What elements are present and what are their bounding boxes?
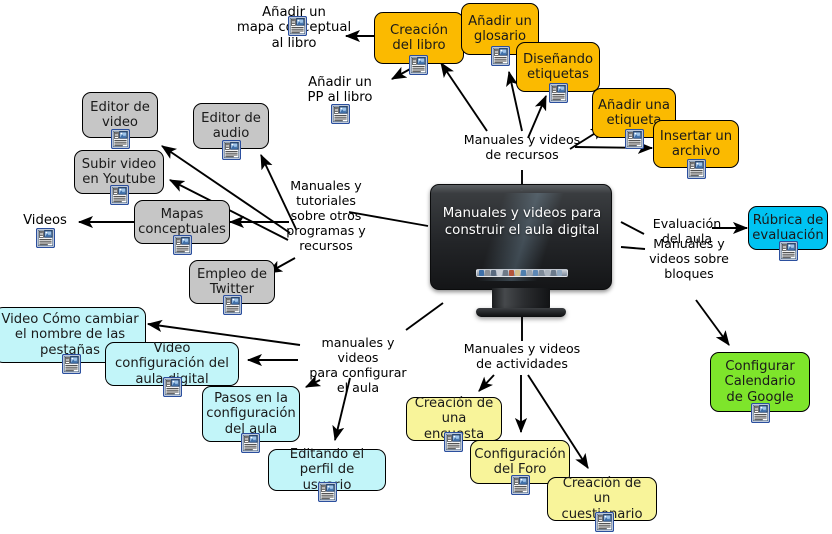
document-attachment-icon[interactable] xyxy=(409,55,428,75)
document-attachment-icon[interactable] xyxy=(318,482,337,502)
document-attachment-icon[interactable] xyxy=(36,228,55,248)
node-label: Empleo de Twitter xyxy=(195,267,269,298)
document-attachment-icon[interactable] xyxy=(625,129,644,149)
edge-label-manuales-videos-recursos: Manuales y videos de recursos xyxy=(460,132,584,162)
document-attachment-icon[interactable] xyxy=(62,354,81,374)
dock-icon xyxy=(533,270,538,276)
dock-icon xyxy=(539,270,544,276)
node-label: Configuración del Foro xyxy=(474,447,566,478)
document-attachment-icon[interactable] xyxy=(511,475,530,495)
dock-icon xyxy=(551,270,556,276)
document-attachment-icon[interactable] xyxy=(595,512,614,532)
document-attachment-icon[interactable] xyxy=(288,16,307,36)
dock-icon xyxy=(509,270,514,276)
label-videos: Videos xyxy=(16,213,74,228)
document-attachment-icon[interactable] xyxy=(491,46,510,66)
document-attachment-icon[interactable] xyxy=(444,432,463,452)
document-attachment-icon[interactable] xyxy=(163,377,182,397)
document-attachment-icon[interactable] xyxy=(687,159,706,179)
monitor-bezel: Manuales y videos para construir el aula… xyxy=(430,184,612,290)
node-label: Creación del libro xyxy=(380,23,458,54)
document-attachment-icon[interactable] xyxy=(751,403,770,423)
dock-icon xyxy=(521,270,526,276)
monitor-neck xyxy=(492,288,550,310)
edge-label-manuales-videos-bloques: Manuales y videos sobre bloques xyxy=(644,236,734,281)
dock-icon xyxy=(491,270,496,276)
node-label: Insertar un archivo xyxy=(659,129,733,160)
document-attachment-icon[interactable] xyxy=(549,83,568,103)
node-label: Diseñando etiquetas xyxy=(522,52,594,83)
center-title: Manuales y videos para construir el aula… xyxy=(439,205,605,239)
node-label: Configurar Calendario de Google xyxy=(716,359,804,405)
dock-icon xyxy=(515,270,520,276)
node-label: Rúbrica de evaluación xyxy=(752,213,823,244)
dock-icon xyxy=(557,270,562,276)
document-attachment-icon[interactable] xyxy=(779,241,798,261)
node-label: Mapas conceptuales xyxy=(138,207,226,238)
node-label: Añadir un glosario xyxy=(467,14,533,45)
dock-icon xyxy=(545,270,550,276)
monitor-screen: Manuales y videos para construir el aula… xyxy=(439,193,605,281)
document-attachment-icon[interactable] xyxy=(110,185,129,205)
dock-icon xyxy=(485,270,490,276)
dock-bar xyxy=(476,269,568,277)
document-attachment-icon[interactable] xyxy=(223,295,242,315)
edge-label-manuales-tutoriales-otros: Manuales y tutoriales sobre otros progra… xyxy=(286,178,366,254)
document-attachment-icon[interactable] xyxy=(173,235,192,255)
document-attachment-icon[interactable] xyxy=(222,140,241,160)
node-label: Subir video en Youtube xyxy=(80,157,158,188)
node-label: Pasos en la configuración del aula xyxy=(206,391,296,437)
dock-icon xyxy=(527,270,532,276)
dock-icon xyxy=(497,270,502,276)
label-anadir-pp-al-libro: Añadir un PP al libro xyxy=(292,75,388,106)
document-attachment-icon[interactable] xyxy=(331,104,350,124)
document-attachment-icon[interactable] xyxy=(241,433,260,453)
dock-icon xyxy=(503,270,508,276)
monitor-base xyxy=(476,308,566,317)
mindmap-canvas: Manuales y videos para construir el aula… xyxy=(0,0,832,534)
document-attachment-icon[interactable] xyxy=(111,129,130,149)
dock-icon xyxy=(479,270,484,276)
edge-label-manuales-videos-configurar: manuales y videos para configurar el aul… xyxy=(300,335,416,395)
webcam-icon xyxy=(520,188,523,191)
node-label: Editor de video xyxy=(88,100,152,131)
edge-label-manuales-videos-actividades: Manuales y videos de actividades xyxy=(455,341,589,371)
node-label: Editor de audio xyxy=(199,111,263,142)
